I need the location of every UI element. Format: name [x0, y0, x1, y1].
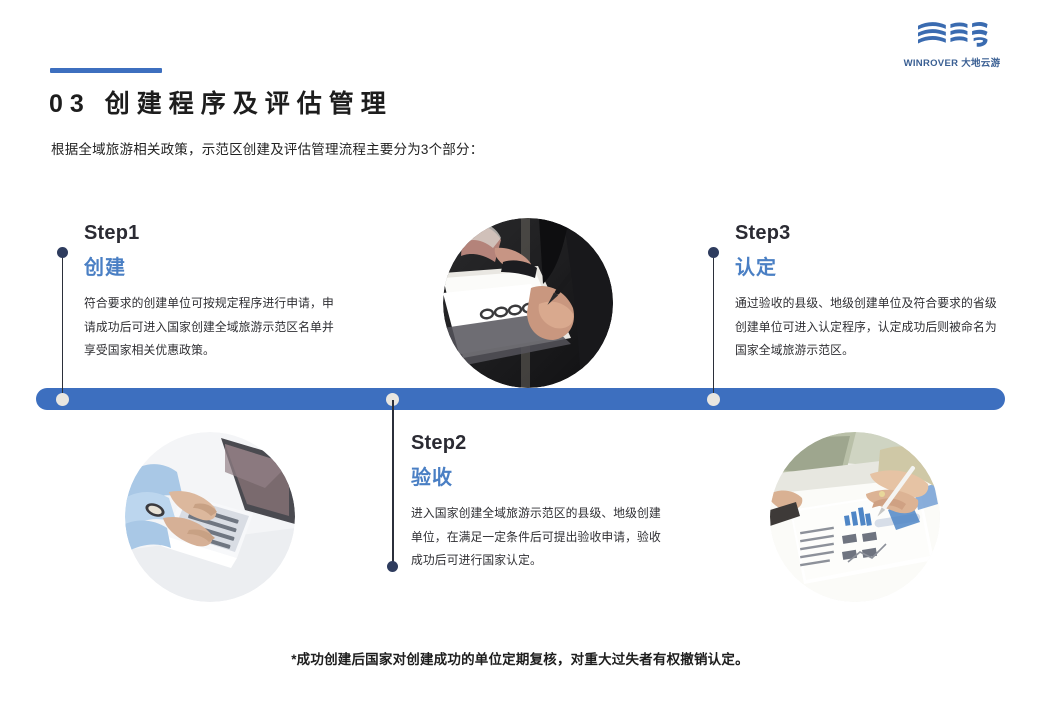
connector-line-step2	[392, 400, 394, 567]
brand-logo-text: WINROVER 大地云游	[892, 55, 1012, 69]
step-block-2: Step2 验收 进入国家创建全域旅游示范区的县级、地级创建单位，在满足一定条件…	[411, 432, 669, 573]
photo-writing-notebook	[443, 218, 613, 388]
page-subtitle: 根据全域旅游相关政策，示范区创建及评估管理流程主要分为3个部分：	[51, 138, 483, 158]
connector-endpoint-step2	[387, 561, 398, 572]
step-3-name: 认定	[735, 251, 997, 280]
step-3-number: Step3	[735, 222, 997, 245]
connector-endpoint-step3	[708, 247, 719, 258]
slide-root: WINROVER 大地云游 03 创建程序及评估管理 根据全域旅游相关政策，示范…	[0, 0, 1040, 720]
step-2-body: 进入国家创建全域旅游示范区的县级、地级创建单位，在满足一定条件后可提出验收申请，…	[411, 502, 669, 573]
timeline-marker-step3	[707, 393, 720, 406]
step-3-body: 通过验收的县级、地级创建单位及符合要求的省级创建单位可进入认定程序，认定成功后则…	[735, 292, 997, 363]
page-title: 03 创建程序及评估管理	[49, 84, 393, 120]
step-1-body: 符合要求的创建单位可按规定程序进行申请，申请成功后可进入国家创建全域旅游示范区名…	[84, 292, 342, 363]
timeline-marker-step1	[56, 393, 69, 406]
photo-reviewing-charts	[770, 432, 940, 602]
winrover-flag-mark-icon	[913, 18, 991, 52]
step-block-1: Step1 创建 符合要求的创建单位可按规定程序进行申请，申请成功后可进入国家创…	[84, 222, 342, 363]
brand-name-en: WINROVER	[904, 58, 959, 69]
brand-name-cn: 大地云游	[961, 58, 1000, 69]
step-2-name: 验收	[411, 461, 669, 490]
step-1-number: Step1	[84, 222, 342, 245]
connector-line-step3	[713, 253, 715, 393]
timeline-bar	[36, 388, 1005, 410]
step-block-3: Step3 认定 通过验收的县级、地级创建单位及符合要求的省级创建单位可进入认定…	[735, 222, 997, 363]
photo-laptop-typing	[125, 432, 295, 602]
footer-note: *成功创建后国家对创建成功的单位定期复核，对重大过失者有权撤销认定。	[0, 648, 1040, 668]
connector-line-step1	[62, 253, 64, 393]
step-2-number: Step2	[411, 432, 669, 455]
brand-logo: WINROVER 大地云游	[892, 18, 1012, 69]
step-1-name: 创建	[84, 251, 342, 280]
connector-endpoint-step1	[57, 247, 68, 258]
title-accent-bar	[50, 68, 162, 73]
